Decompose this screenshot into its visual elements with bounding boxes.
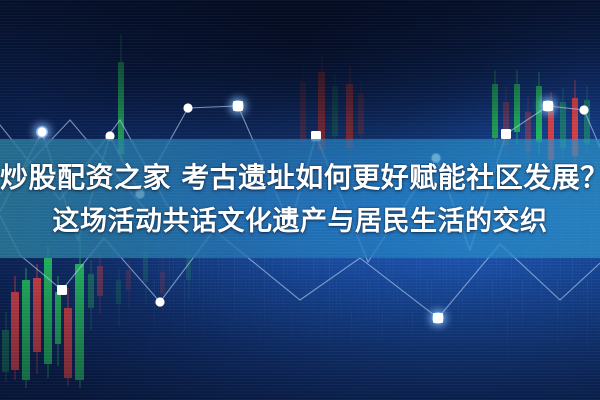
banner-image: 炒股配资之家 考古遗址如何更好赋能社区发展？ 这场活动共话文化遗产与居民生活的交…	[0, 0, 600, 400]
noise-texture	[0, 0, 600, 400]
